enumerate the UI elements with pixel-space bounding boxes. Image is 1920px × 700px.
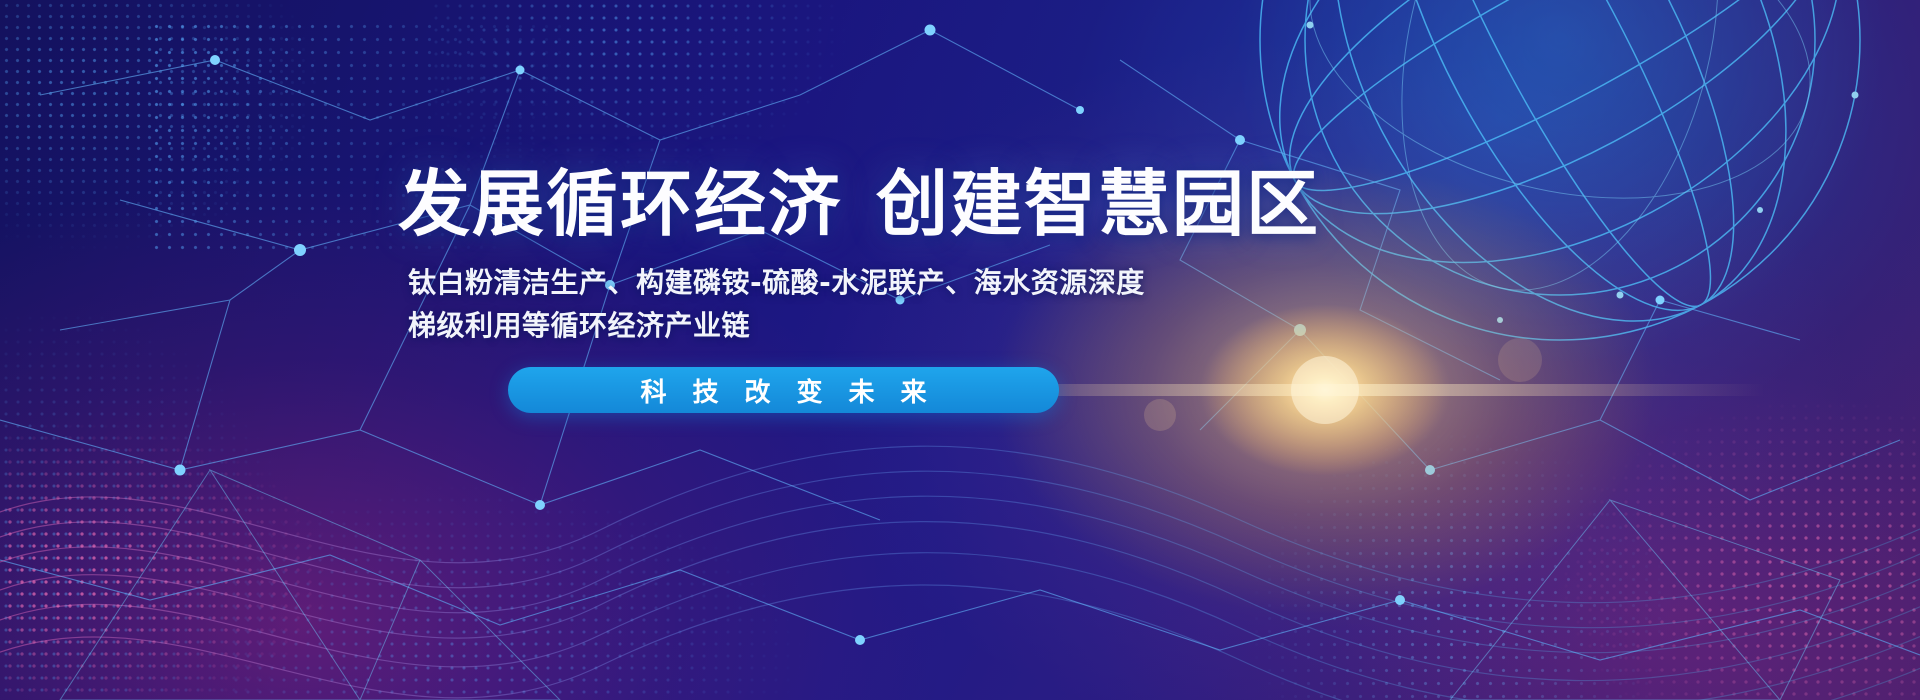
cta-button-label: 科技改变未来 bbox=[614, 372, 952, 409]
headline-part-1: 发展循环经济 bbox=[398, 162, 842, 246]
banner-content: 发展循环经济创建智慧园区 钛白粉清洁生产、构建磷铵-硫酸-水泥联产、海水资源深度… bbox=[0, 0, 1920, 700]
headline-part-2: 创建智慧园区 bbox=[876, 162, 1320, 246]
subtitle-line-2: 梯级利用等循环经济产业链 bbox=[408, 305, 1208, 348]
subtitle-line-1: 钛白粉清洁生产、构建磷铵-硫酸-水泥联产、海水资源深度 bbox=[408, 262, 1208, 305]
cta-button[interactable]: 科技改变未来 bbox=[508, 367, 1059, 413]
hero-banner: 发展循环经济创建智慧园区 钛白粉清洁生产、构建磷铵-硫酸-水泥联产、海水资源深度… bbox=[0, 0, 1920, 700]
page-title: 发展循环经济创建智慧园区 bbox=[398, 168, 1320, 240]
subtitle: 钛白粉清洁生产、构建磷铵-硫酸-水泥联产、海水资源深度 梯级利用等循环经济产业链 bbox=[408, 262, 1208, 347]
